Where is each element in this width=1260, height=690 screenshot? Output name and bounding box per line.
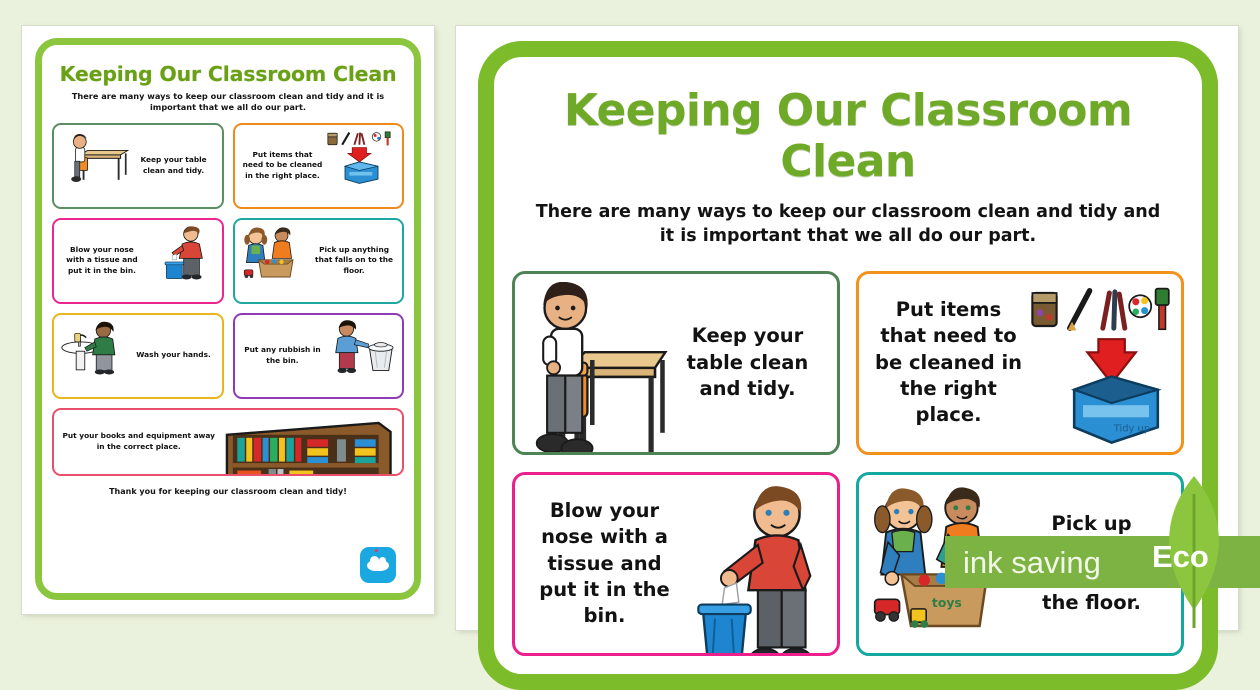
svg-text:toys: toys [932,595,962,610]
thumbnail-card-text: Keep your table clean and tidy. [131,155,217,176]
poster-green-frame: Keeping Our Classroom Clean There are ma… [478,41,1218,690]
art-supplies-box-icon: Tidy up [1028,282,1171,444]
thumbnail-card-text: Put your books and equipment away in the… [59,431,218,452]
poster-card-text: Blow your nose with a tissue and put it … [525,498,684,629]
child-at-table-icon [59,129,131,203]
poster-card-put-items[interactable]: Put items that need to be cleaned in the… [856,271,1184,455]
thumbnail-card-grid: Keep your table clean and tidy. Put item… [52,123,404,476]
thumbnail-card-text: Pick up anything that falls on to the fl… [311,245,397,277]
thumbnail-card-put-items[interactable]: Put items that need to be cleaned in the… [233,123,405,209]
thumbnail-row: Wash your hands. Put any rubbish in the … [52,313,404,399]
thumbnail-subtitle: There are many ways to keep our classroo… [63,91,393,114]
poster-card-keep-table[interactable]: Keep your table clean and tidy. [512,271,840,455]
twinkl-logo [360,547,396,583]
poster-card-grid: Keep your table clean and tidy. Put item… [512,271,1184,656]
svg-text:Tidy up: Tidy up [1113,423,1150,434]
child-at-table-icon [525,282,668,444]
child-tissue-bin-icon [145,224,217,298]
thumbnail-title: Keeping Our Classroom Clean [52,62,404,86]
thumbnail-row: Put your books and equipment away in the… [52,408,404,476]
page-title: Keeping Our Classroom Clean [512,85,1184,187]
thumbnail-card-keep-table[interactable]: Keep your table clean and tidy. [52,123,224,209]
children-toybox-icon [240,224,312,298]
thumbnail-row: Keep your table clean and tidy. Put item… [52,123,404,209]
poster-card-text: Put items that need to be cleaned in the… [869,297,1028,428]
thumbnail-card-wash-hands[interactable]: Wash your hands. [52,313,224,399]
screenshot-stage: Keeping Our Classroom Clean There are ma… [0,0,1260,630]
thumbnail-card-blow-nose[interactable]: Blow your nose with a tissue and put it … [52,218,224,304]
poster-card-blow-nose[interactable]: Blow your nose with a tissue and put it … [512,472,840,656]
poster-card-text: Keep your table clean and tidy. [668,323,827,401]
child-washing-hands-icon [59,319,131,393]
thumbnail-card-text: Put items that need to be cleaned in the… [240,150,326,182]
thumbnail-card-text: Blow your nose with a tissue and put it … [59,245,145,277]
thumbnail-card-text: Put any rubbish in the bin. [240,345,326,366]
art-supplies-box-icon [325,129,397,203]
eco-badge-label: Eco [1152,539,1209,575]
page-subtitle: There are many ways to keep our classroo… [526,201,1170,249]
thumbnail-thank-you-text: Thank you for keeping our classroom clea… [52,486,404,497]
bookshelf-icon [218,414,397,470]
child-tissue-bin-icon [684,483,827,645]
thumbnail-card-rubbish-bin[interactable]: Put any rubbish in the bin. [233,313,405,399]
thumbnail-card-books-away[interactable]: Put your books and equipment away in the… [52,408,404,476]
child-rubbish-bin-icon [325,319,397,393]
thumbnail-row: Blow your nose with a tissue and put it … [52,218,404,304]
thumbnail-card-text: Wash your hands. [131,350,217,361]
thumbnail-green-frame: Keeping Our Classroom Clean There are ma… [35,38,421,600]
poster-row: Keep your table clean and tidy. Put item… [512,271,1184,455]
thumbnail-card-pick-up[interactable]: Pick up anything that falls on to the fl… [233,218,405,304]
resource-preview-thumbnail[interactable]: Keeping Our Classroom Clean There are ma… [22,26,434,614]
ink-saving-label: ink saving [963,545,1101,581]
